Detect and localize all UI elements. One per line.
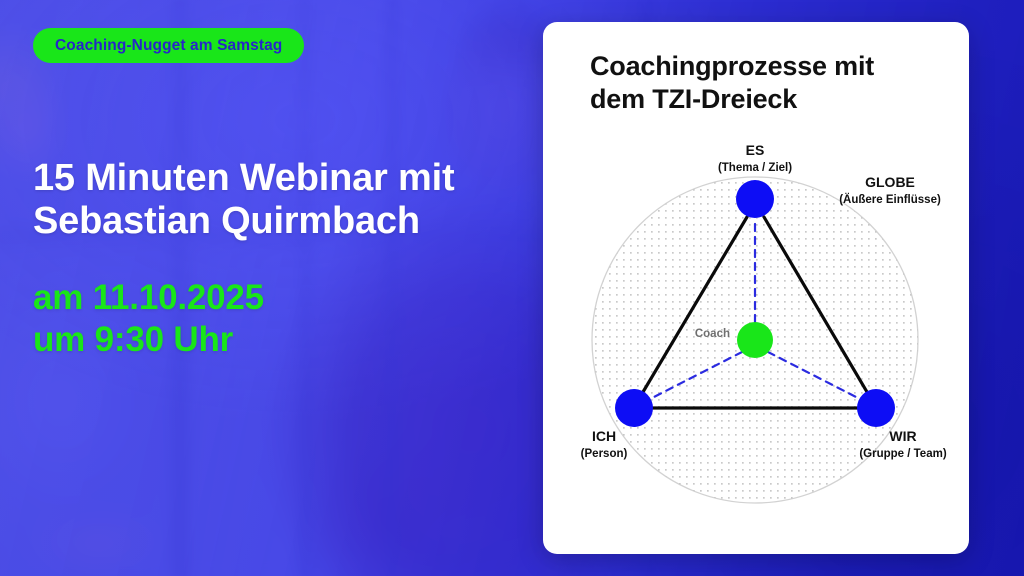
label-globe: GLOBE (865, 174, 915, 190)
tzi-triangle-diagram: ES (Thema / Ziel) GLOBE (Äußere Einflüss… (543, 22, 969, 554)
label-ich-sub: (Person) (581, 448, 628, 460)
label-es: ES (746, 142, 765, 158)
label-globe-sub: (Äußere Einflüsse) (839, 193, 941, 206)
headline-line-2: Sebastian Quirmbach (33, 200, 513, 243)
event-time: um 9:30 Uhr (33, 319, 264, 361)
label-coach: Coach (695, 328, 730, 340)
event-datetime: am 11.10.2025 um 9:30 Uhr (33, 277, 264, 361)
webinar-banner: Coaching-Nugget am Samstag 15 Minuten We… (0, 0, 1024, 576)
label-es-sub: (Thema / Ziel) (718, 162, 792, 174)
node-ich (615, 389, 653, 427)
badge-coaching-nugget: Coaching-Nugget am Samstag (33, 28, 304, 63)
label-ich: ICH (592, 428, 616, 444)
label-wir-sub: (Gruppe / Team) (859, 448, 946, 460)
label-wir: WIR (889, 428, 916, 444)
headline-line-1: 15 Minuten Webinar mit (33, 157, 454, 199)
headline: 15 Minuten Webinar mit Sebastian Quirmba… (33, 157, 513, 244)
event-date: am 11.10.2025 (33, 278, 264, 317)
tzi-card: Coachingprozesse mit dem TZI-Dreieck (543, 22, 969, 554)
node-es (736, 180, 774, 218)
node-wir (857, 389, 895, 427)
badge-label: Coaching-Nugget am Samstag (55, 37, 282, 55)
node-coach (737, 322, 773, 358)
